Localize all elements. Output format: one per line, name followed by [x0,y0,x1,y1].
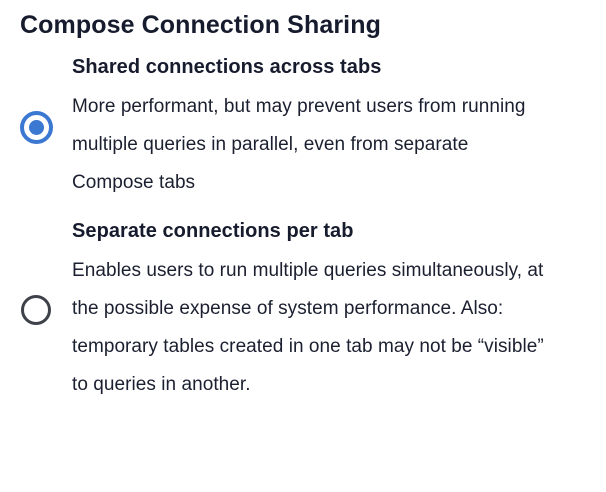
option-text-shared-connections: Shared connections across tabs More perf… [72,52,606,202]
radio-unselected-icon[interactable] [21,295,51,325]
page-title: Compose Connection Sharing [20,8,381,42]
option-heading-shared-connections: Shared connections across tabs [72,52,590,82]
compose-connection-sharing-panel: Compose Connection Sharing Shared connec… [0,0,606,492]
radio-selected-icon[interactable] [20,111,53,144]
radio-group-connection-sharing: Shared connections across tabs More perf… [0,52,606,404]
radio-cell-shared-connections[interactable] [0,111,72,144]
radio-option-shared-connections[interactable]: Shared connections across tabs More perf… [0,52,606,202]
option-description-separate-connections: Enables users to run multiple queries si… [72,252,554,404]
option-text-separate-connections: Separate connections per tab Enables use… [72,216,606,404]
radio-option-separate-connections[interactable]: Separate connections per tab Enables use… [0,216,606,404]
option-description-shared-connections: More performant, but may prevent users f… [72,88,554,202]
option-heading-separate-connections: Separate connections per tab [72,216,590,246]
radio-cell-separate-connections[interactable] [0,295,72,325]
